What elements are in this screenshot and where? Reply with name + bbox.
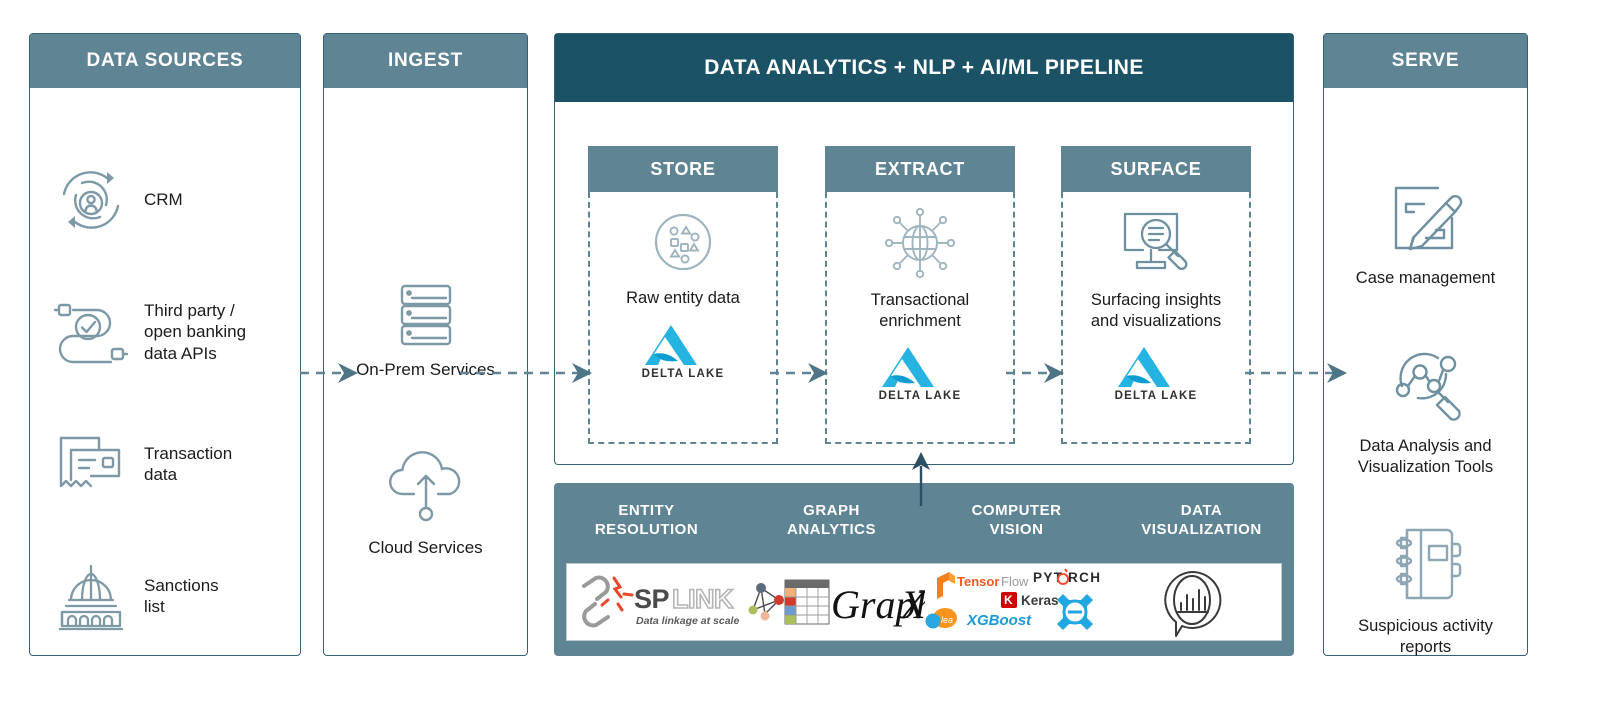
data-sources-body: CRM Th — [30, 88, 300, 662]
list-item[interactable]: Transaction data — [30, 398, 300, 530]
api-connector-icon — [48, 296, 134, 368]
list-item-label: CRM — [134, 189, 183, 210]
column-ingest: INGEST O — [323, 33, 528, 656]
arrow-tech-to-pipeline — [908, 452, 934, 506]
splink-logo: SP LINK Data linkage at scale — [567, 564, 745, 640]
arrow-pipeline-to-serve — [1245, 358, 1349, 388]
stage-store-caption: Raw entity data — [626, 288, 740, 309]
arrow-ingest-to-pipeline — [460, 358, 594, 388]
stage-surface-body: Surfacing insights and visualizations DE… — [1061, 192, 1251, 444]
list-item[interactable]: Suspicious activity reports — [1324, 518, 1527, 659]
list-item-label: Sanctions list — [134, 575, 219, 618]
delta-lake-logo: DELTA LAKE — [1115, 345, 1198, 402]
stage-extract-header: EXTRACT — [825, 146, 1015, 192]
stage-extract[interactable]: EXTRACT — [825, 146, 1015, 444]
column-pipeline: DATA ANALYTICS + NLP + AI/ML PIPELINE ST… — [554, 33, 1294, 465]
column-data-sources: DATA SOURCES — [29, 33, 301, 656]
tech-label-graph-analytics: GRAPH ANALYTICS — [739, 501, 924, 555]
column-serve: SERVE — [1323, 33, 1528, 656]
svg-text:Keras: Keras — [1021, 593, 1059, 608]
delta-lake-logo: DELTA LAKE — [642, 323, 725, 380]
list-item[interactable]: Case management — [1324, 172, 1527, 289]
stage-store[interactable]: STORE — [588, 146, 778, 444]
list-item[interactable]: CRM — [30, 134, 300, 266]
arrow-store-to-extract — [770, 358, 830, 388]
svg-text:SP: SP — [634, 584, 670, 614]
list-item[interactable]: Cloud Services — [324, 446, 527, 558]
list-item[interactable]: Data Analysis and Visualization Tools — [1324, 338, 1527, 479]
tech-label-computer-vision: COMPUTER VISION — [924, 501, 1109, 555]
list-item[interactable]: Third party / open banking data APIs — [30, 266, 300, 398]
delta-lake-logo: DELTA LAKE — [879, 345, 962, 402]
svg-text:X: X — [899, 582, 925, 627]
svg-text:K: K — [1004, 593, 1013, 607]
svg-text:lea: lea — [941, 615, 953, 625]
pipeline-header: DATA ANALYTICS + NLP + AI/ML PIPELINE — [555, 34, 1293, 102]
data-sources-header: DATA SOURCES — [30, 34, 300, 88]
receipt-icon — [48, 428, 134, 500]
architecture-diagram: DATA SOURCES — [0, 0, 1600, 708]
svg-text:RCH: RCH — [1068, 570, 1101, 585]
stage-store-header: STORE — [588, 146, 778, 192]
analysis-magnifier-icon — [1324, 338, 1527, 430]
graphx-logo: Graph X — [745, 564, 925, 640]
delta-lake-label: DELTA LAKE — [642, 368, 725, 380]
tech-label-data-visualization: DATA VISUALIZATION — [1109, 501, 1294, 555]
serve-header: SERVE — [1324, 34, 1527, 88]
case-edit-icon — [1324, 172, 1527, 262]
svg-text:XGBoost: XGBoost — [966, 612, 1032, 629]
svg-text:Data linkage at scale: Data linkage at scale — [636, 615, 739, 627]
data-blob-circle-icon — [647, 206, 719, 278]
list-item-label: Third party / open banking data APIs — [134, 300, 246, 364]
svg-text:LINK: LINK — [672, 584, 734, 614]
server-rack-icon — [324, 278, 527, 352]
crm-cycle-icon — [48, 161, 134, 239]
svg-text:Flow: Flow — [1001, 574, 1029, 589]
arrow-sources-to-ingest — [300, 358, 360, 388]
list-item-label: Suspicious activity reports — [1324, 616, 1527, 659]
list-item-label: Case management — [1324, 268, 1527, 289]
svg-text:Tensor: Tensor — [957, 574, 999, 589]
list-item-label: Transaction data — [134, 443, 232, 486]
list-item-label: Data Analysis and Visualization Tools — [1324, 436, 1527, 479]
government-building-icon — [48, 560, 134, 632]
tech-logo-strip: SP LINK Data linkage at scale — [566, 563, 1282, 641]
stage-extract-caption: Transactional enrichment — [871, 290, 969, 331]
globe-network-icon — [883, 206, 957, 280]
stage-store-body: Raw entity data DELTA LAKE — [588, 192, 778, 444]
delta-lake-label: DELTA LAKE — [1115, 390, 1198, 402]
list-item[interactable]: Sanctions list — [30, 530, 300, 662]
ingest-header: INGEST — [324, 34, 527, 88]
tech-panel: ENTITY RESOLUTION GRAPH ANALYTICS COMPUT… — [554, 483, 1294, 656]
list-item-label: Cloud Services — [324, 538, 527, 558]
monitor-magnifier-icon — [1115, 206, 1197, 280]
cloud-upload-icon — [324, 446, 527, 530]
tech-label-entity-resolution: ENTITY RESOLUTION — [554, 501, 739, 555]
stage-extract-body: Transactional enrichment DELTA LAKE — [825, 192, 1015, 444]
ml-frameworks-logos: Tensor Flow PYT RCH K Keras lea XGBoost — [925, 564, 1103, 640]
plotly-dash-logo — [1103, 564, 1281, 640]
stage-surface-header: SURFACE — [1061, 146, 1251, 192]
notebook-icon — [1324, 518, 1527, 610]
stage-surface[interactable]: SURFACE — [1061, 146, 1251, 444]
stage-surface-caption: Surfacing insights and visualizations — [1091, 290, 1221, 331]
delta-lake-label: DELTA LAKE — [879, 390, 962, 402]
arrow-extract-to-surface — [1006, 358, 1066, 388]
